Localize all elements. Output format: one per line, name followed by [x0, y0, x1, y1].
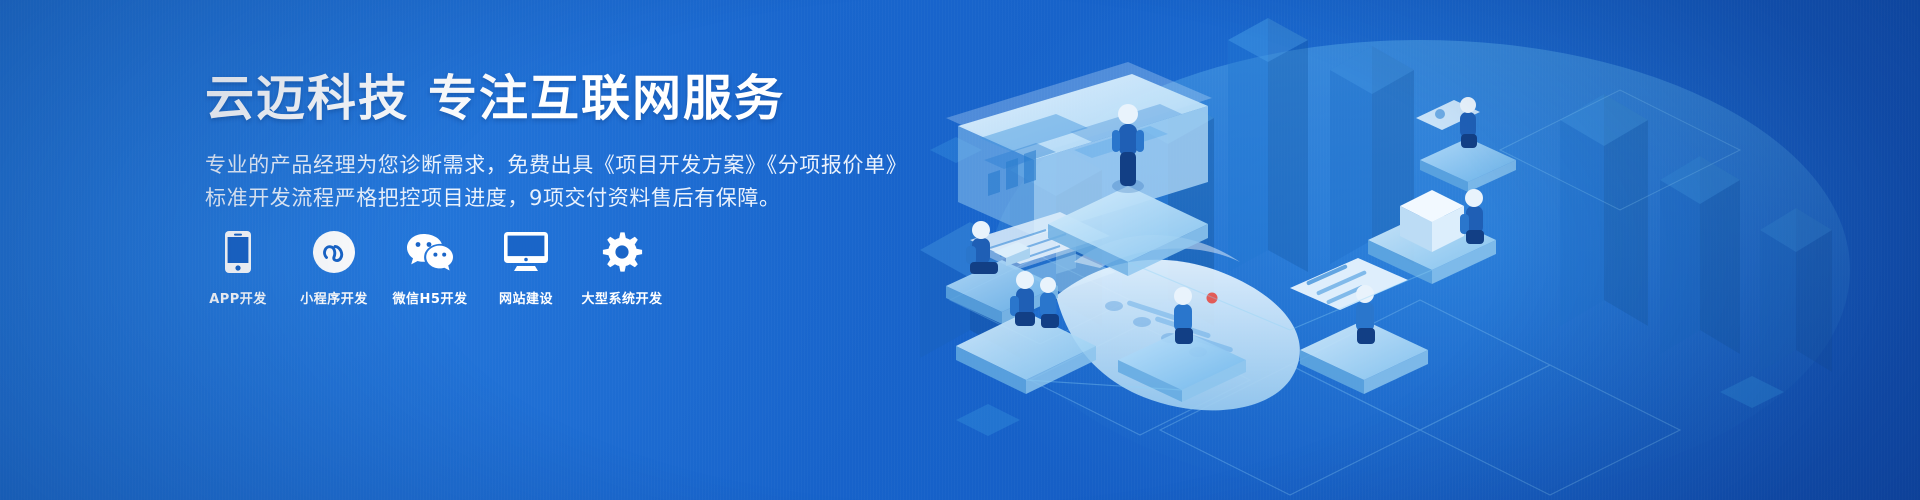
subtitle-line-2: 标准开发流程严格把控项目进度，9项交付资料售后有保障。	[205, 182, 905, 215]
banner-subtitle: 专业的产品经理为您诊断需求，免费出具《项目开发方案》《分项报价单》 标准开发流程…	[205, 149, 905, 215]
subtitle-line-1: 专业的产品经理为您诊断需求，免费出具《项目开发方案》《分项报价单》	[205, 149, 905, 182]
service-label: 网站建设	[499, 288, 553, 307]
mini-program-icon	[313, 230, 355, 274]
service-label: 大型系统开发	[582, 288, 663, 307]
service-item-mini-program[interactable]: 小程序开发	[299, 230, 369, 307]
hero-banner: 云迈科技 专注互联网服务 专业的产品经理为您诊断需求，免费出具《项目开发方案》《…	[0, 0, 1920, 500]
service-list: APP开发 小程序开发 微信	[203, 230, 657, 307]
service-item-large-system[interactable]: 大型系统开发	[587, 230, 657, 307]
service-label: APP开发	[209, 288, 267, 307]
mobile-phone-icon	[225, 230, 251, 274]
gear-icon	[601, 230, 643, 274]
banner-copy: 云迈科技 专注互联网服务 专业的产品经理为您诊断需求，免费出具《项目开发方案》《…	[205, 72, 905, 215]
service-label: 微信H5开发	[393, 288, 468, 307]
service-item-website[interactable]: 网站建设	[491, 230, 561, 307]
page-title: 云迈科技 专注互联网服务	[205, 72, 905, 127]
monitor-icon	[504, 230, 548, 274]
service-label: 小程序开发	[300, 288, 368, 307]
service-item-app[interactable]: APP开发	[203, 230, 273, 307]
wechat-icon	[406, 230, 454, 274]
service-item-wechat-h5[interactable]: 微信H5开发	[395, 230, 465, 307]
isometric-illustration	[860, 0, 1920, 500]
